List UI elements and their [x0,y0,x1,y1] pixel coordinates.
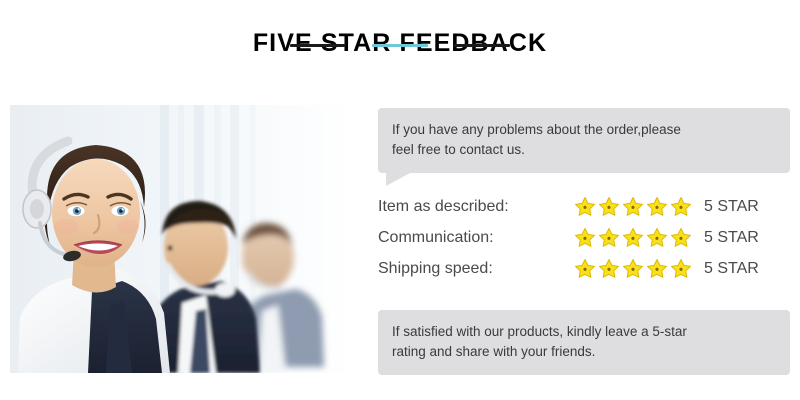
rating-label-shipping-speed: Shipping speed: [378,259,574,279]
divider-group [0,44,800,47]
star-icon [574,258,596,280]
photo-illustration [10,105,355,373]
star-icon [646,258,668,280]
divider-center [372,44,428,47]
star-icon [574,196,596,218]
rating-value-communication: 5 STAR [700,228,759,248]
header: FIVE STAR FEEDBACK [0,28,800,58]
star-icon [646,196,668,218]
star-icon [670,258,692,280]
five-star-feedback-banner: FIVE STAR FEEDBACK [0,0,800,400]
ratings-list: Item as described: 5 STAR Communication: [378,191,790,284]
rating-row: Communication: 5 STAR [378,222,790,253]
page-title: FIVE STAR FEEDBACK [0,28,800,58]
rating-row: Item as described: 5 STAR [378,191,790,222]
rating-value-shipping-speed: 5 STAR [700,259,759,279]
divider-left [290,44,346,47]
star-icon [670,196,692,218]
star-rating-communication [574,227,700,249]
divider-right [454,44,510,47]
star-icon [574,227,596,249]
star-icon [622,258,644,280]
rating-label-communication: Communication: [378,228,574,248]
callout-tail [386,172,412,186]
star-icon [622,196,644,218]
star-icon [598,258,620,280]
star-rating-item-as-described [574,196,700,218]
contact-callout: If you have any problems about the order… [378,108,790,173]
satisfaction-callout-text: If satisfied with our products, kindly l… [392,322,776,362]
star-icon [646,227,668,249]
star-icon [598,196,620,218]
star-rating-shipping-speed [574,258,700,280]
rating-label-item-as-described: Item as described: [378,197,574,217]
rating-value-item-as-described: 5 STAR [700,197,759,217]
feedback-panel: If you have any problems about the order… [378,108,790,366]
satisfaction-callout: If satisfied with our products, kindly l… [378,310,790,375]
contact-callout-text: If you have any problems about the order… [392,120,776,160]
star-icon [670,227,692,249]
rating-row: Shipping speed: 5 STAR [378,253,790,284]
star-icon [598,227,620,249]
customer-service-photo [10,105,355,373]
star-icon [622,227,644,249]
